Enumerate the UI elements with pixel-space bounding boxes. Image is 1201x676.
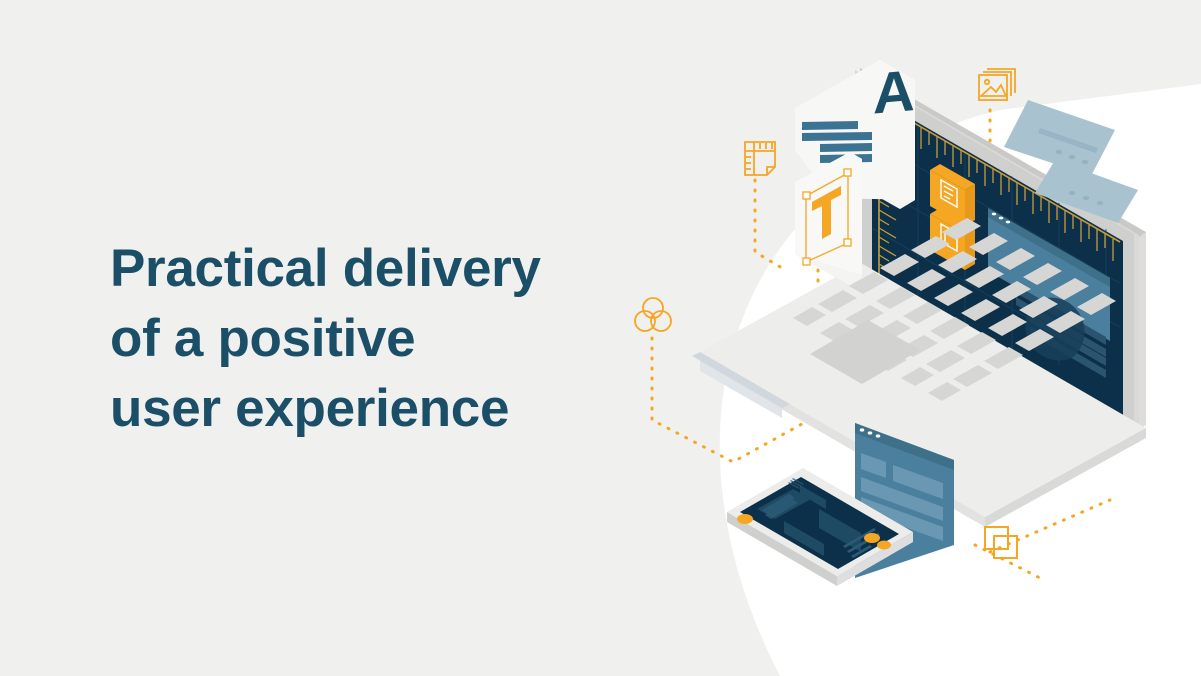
svg-text:A: A — [873, 58, 915, 127]
letter-a-glyph: A — [873, 58, 915, 127]
hero-illustration: A — [0, 0, 1201, 676]
ruler-page-icon — [745, 142, 775, 175]
hero-banner: Practical delivery of a positive user ex… — [0, 0, 1201, 676]
color-circles-icon — [635, 298, 671, 331]
text-tool-card — [795, 152, 862, 285]
image-stack-icon — [979, 69, 1015, 100]
